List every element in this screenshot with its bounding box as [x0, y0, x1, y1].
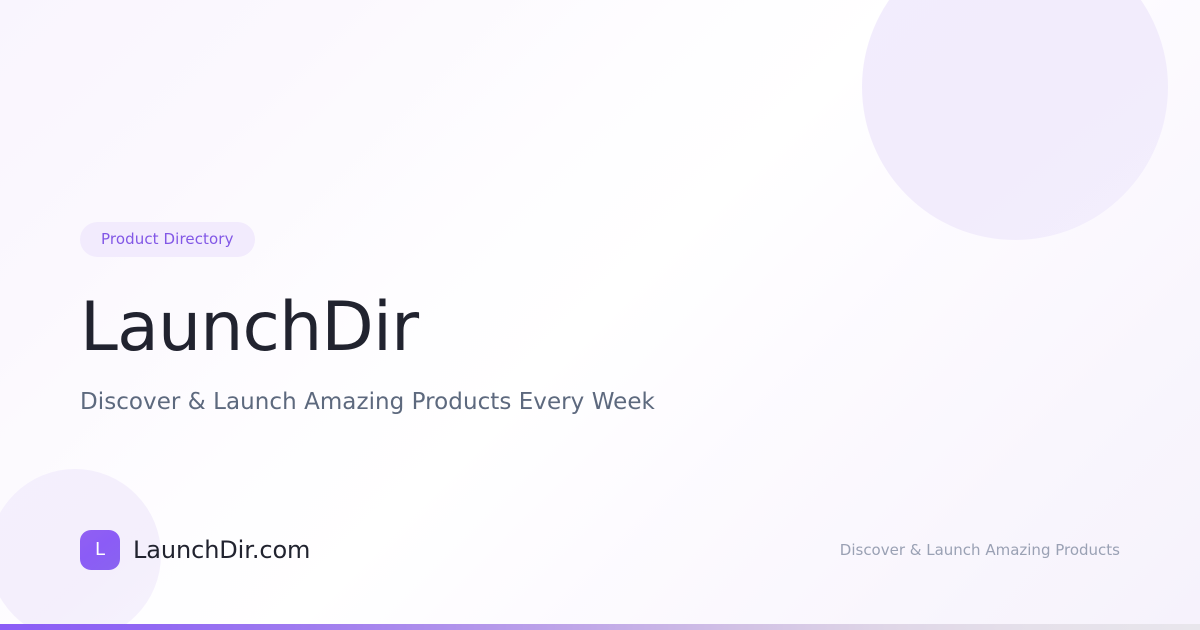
brand-name: LaunchDir.com	[133, 538, 310, 562]
logo-icon: L	[80, 530, 120, 570]
category-badge: Product Directory	[80, 222, 255, 257]
page-title: LaunchDir	[80, 294, 655, 362]
page-subtitle: Discover & Launch Amazing Products Every…	[80, 389, 655, 417]
hero-content: Product Directory LaunchDir Discover & L…	[80, 222, 655, 417]
accent-bar	[0, 624, 1200, 630]
brand-lockup: L LaunchDir.com	[80, 530, 310, 570]
og-card: Product Directory LaunchDir Discover & L…	[0, 0, 1200, 630]
footer: L LaunchDir.com Discover & Launch Amazin…	[80, 530, 1120, 570]
logo-letter: L	[95, 541, 105, 559]
decorative-circle-top-right	[862, 0, 1168, 240]
footer-tagline: Discover & Launch Amazing Products	[840, 543, 1120, 558]
